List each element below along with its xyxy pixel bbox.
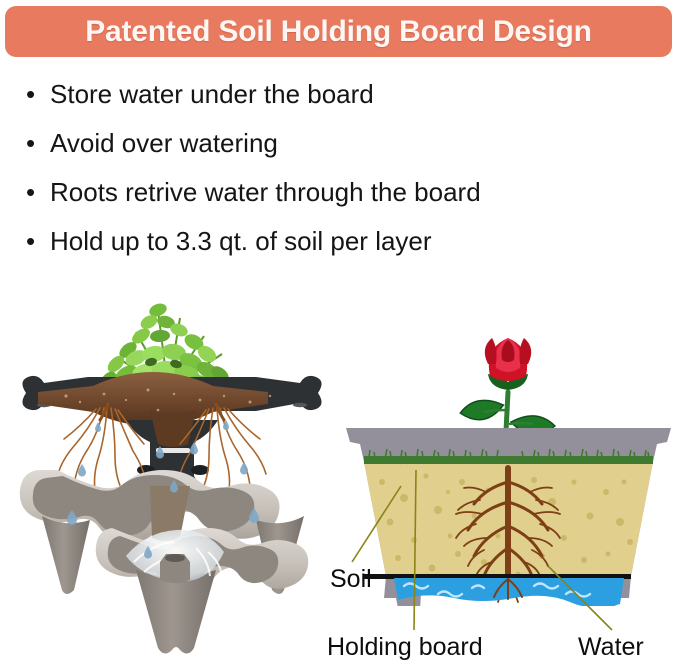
cross-section-diagram [338, 286, 679, 606]
list-item-label: Hold up to 3.3 qt. of soil per layer [50, 217, 432, 266]
list-item: • Avoid over watering [26, 119, 666, 168]
list-item: • Hold up to 3.3 qt. of soil per layer [26, 217, 666, 266]
callout-label-holding-board: Holding board [327, 633, 483, 661]
stacked-planter-photo [8, 270, 338, 660]
bullet-icon: • [26, 119, 50, 168]
callout-label-soil: Soil [330, 565, 372, 593]
list-item: • Store water under the board [26, 70, 666, 119]
callout-label-water: Water [578, 633, 644, 661]
list-item-label: Avoid over watering [50, 119, 278, 168]
list-item-label: Store water under the board [50, 70, 374, 119]
illustration-area [0, 268, 679, 669]
list-item: • Roots retrive water through the board [26, 168, 666, 217]
page-title: Patented Soil Holding Board Design [85, 15, 592, 49]
bullet-icon: • [26, 168, 50, 217]
list-item-label: Roots retrive water through the board [50, 168, 481, 217]
feature-list: • Store water under the board • Avoid ov… [26, 70, 666, 266]
header-banner: Patented Soil Holding Board Design [5, 6, 672, 57]
bullet-icon: • [26, 70, 50, 119]
bullet-icon: • [26, 217, 50, 266]
rose-bloom [485, 338, 531, 390]
planter-tiers [20, 470, 308, 654]
